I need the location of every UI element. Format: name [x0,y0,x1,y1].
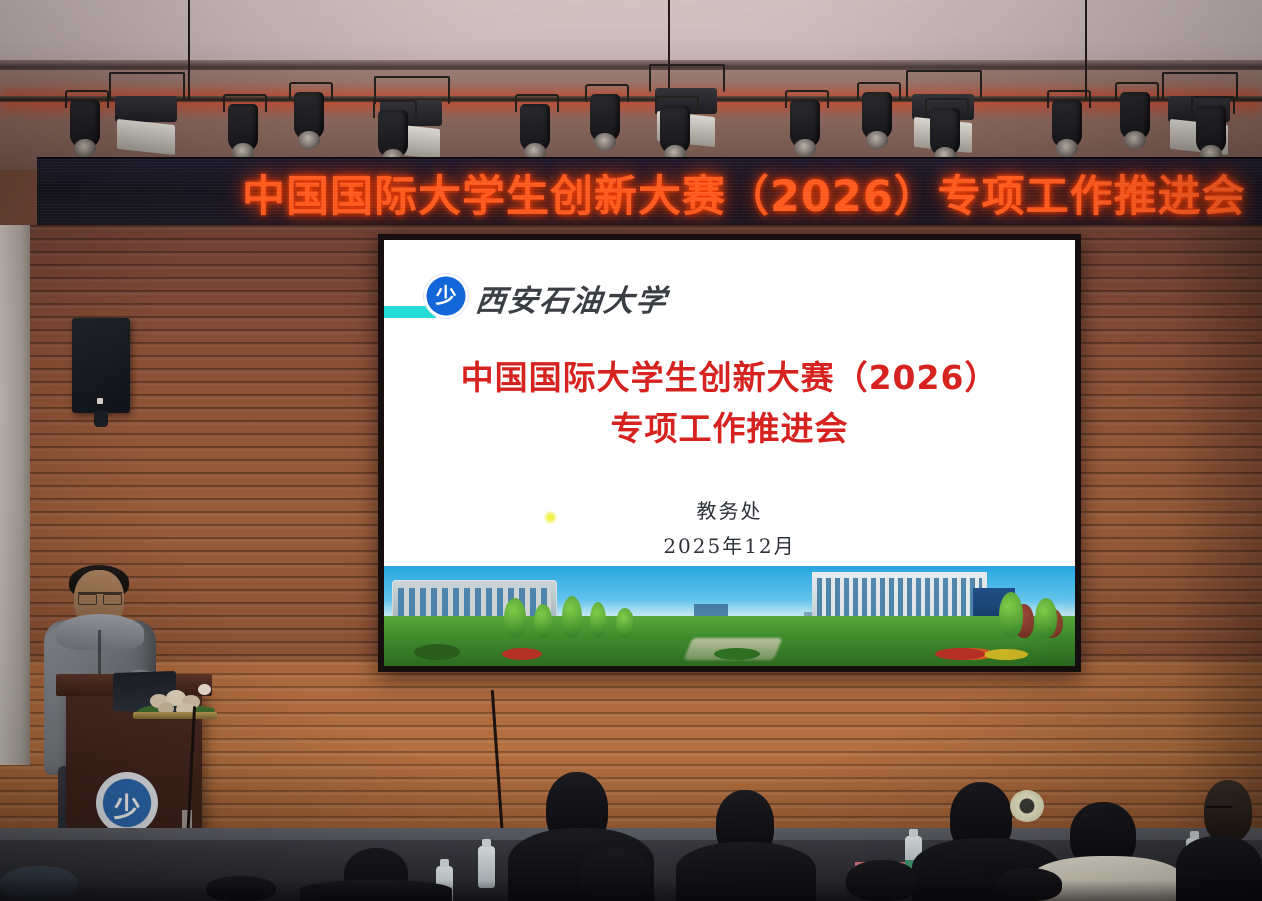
stage-spotlight [930,108,960,156]
presentation-slide: 少 西安石油大学 中国国际大学生创新大赛（2026） 专项工作推进会 教务处 2… [384,240,1075,666]
foreground-shadow [0,880,1262,901]
wall-speaker [72,318,130,413]
campus-photo [384,566,1075,666]
campus-tree [504,598,526,638]
laser-pointer-dot [544,511,557,524]
wall-column [0,225,30,765]
auditorium-scene: 中国国际大学生创新大赛（2026）专项工作推进会 少 西安石油大学 中国国际大学… [0,0,1262,901]
podium-emblem-mark: 少 [96,786,158,825]
stage-spotlight [590,94,620,142]
stage-spotlight [294,92,324,140]
emblem-mark: 少 [435,284,457,308]
campus-bush [714,648,760,660]
byline-date: 2025年12月 [384,529,1075,564]
campus-flowerbed [935,648,985,660]
stage-spotlight [660,106,690,154]
stage-spotlight [70,100,100,148]
stage-spotlight [520,104,550,152]
rigging-cable [188,0,190,100]
campus-tree [999,592,1023,638]
campus-tree [1035,598,1057,638]
byline-department: 教务处 [384,494,1075,529]
podium-emblem-icon: 少 [96,772,158,834]
flower-tray [133,712,217,719]
campus-tree [616,608,634,638]
projection-screen: 少 西安石油大学 中国国际大学生创新大赛（2026） 专项工作推进会 教务处 2… [378,234,1081,672]
stage-spotlight [228,104,258,152]
slide-title-line2: 专项工作推进会 [384,403,1075,454]
slide-title: 中国国际大学生创新大赛（2026） 专项工作推进会 [384,352,1075,454]
stage-spotlight [1120,92,1150,140]
university-name: 西安石油大学 [474,276,671,320]
campus-tree [534,604,552,638]
slide-title-line1: 中国国际大学生创新大赛（2026） [384,352,1075,403]
campus-flowerbed [984,649,1028,660]
led-banner: 中国国际大学生创新大赛（2026）专项工作推进会 [37,157,1262,230]
presenter-glasses-icon [78,592,122,603]
wall-shadow [1172,225,1262,835]
stage-spotlight [862,92,892,140]
stage-panel-light [115,96,177,152]
university-emblem-icon: 少 [424,274,468,318]
stage-spotlight [1052,100,1082,148]
audience-glasses-icon [1206,806,1232,816]
stage-spotlight [1196,106,1226,154]
rigging-cable [1085,0,1087,98]
campus-bush [414,644,460,660]
stage-spotlight [790,100,820,148]
campus-flowerbed [502,648,542,660]
campus-tree [562,596,582,638]
led-banner-text: 中国国际大学生创新大赛（2026）专项工作推进会 [242,162,1246,224]
stage-spotlight [378,110,408,158]
slide-logo-row: 少 西安石油大学 [384,268,1075,328]
slide-byline: 教务处 2025年12月 [384,494,1075,564]
hair-scrunchie [1010,790,1044,822]
campus-tree [590,602,606,638]
